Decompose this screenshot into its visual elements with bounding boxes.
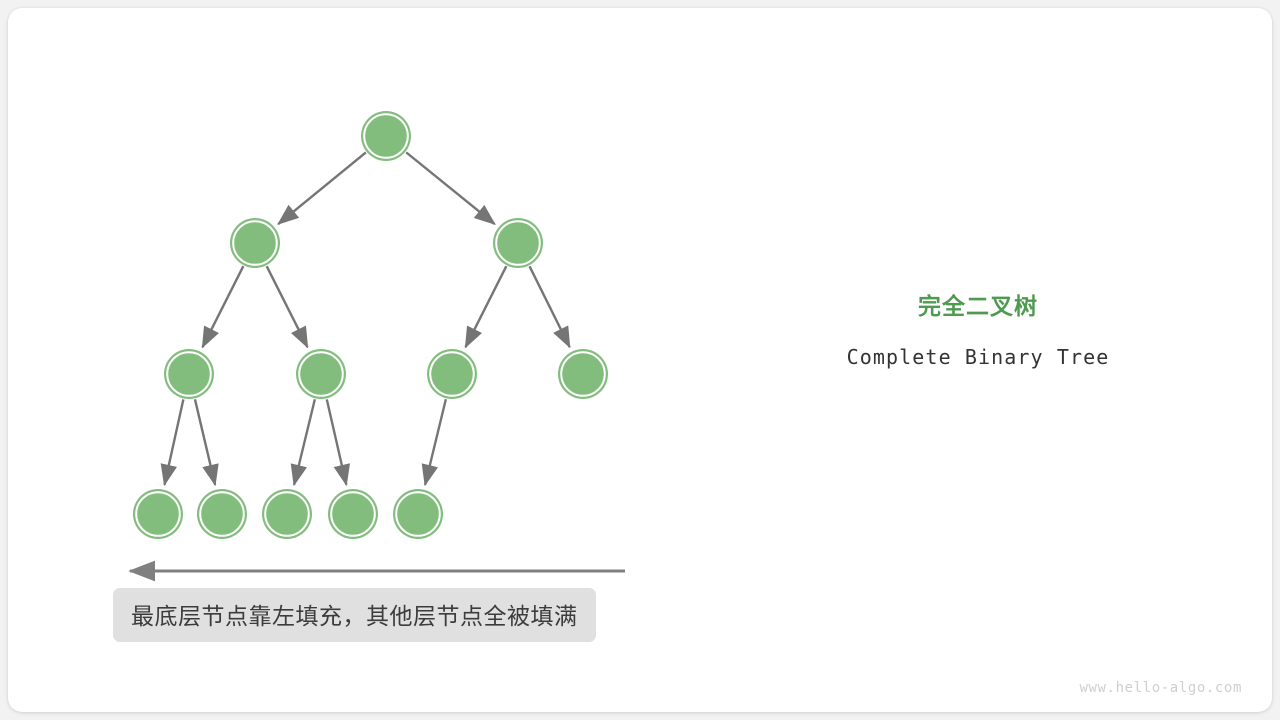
tree-node	[361, 111, 411, 161]
tree-node-core	[138, 494, 178, 534]
tree-edge	[327, 399, 347, 484]
tree-edge	[278, 152, 366, 224]
tree-node-core	[301, 354, 341, 394]
tree-edge	[267, 266, 308, 347]
tree-edge	[465, 266, 506, 347]
tree-edge	[294, 399, 315, 485]
tree-node-core	[333, 494, 373, 534]
tree-node-core	[366, 116, 406, 156]
watermark: www.hello-algo.com	[1079, 680, 1242, 696]
tree-edge	[202, 266, 243, 347]
tree-node-core	[498, 223, 538, 263]
tree-node-core	[267, 494, 307, 534]
tree-node-core	[432, 354, 472, 394]
screenshot-stage: 完全二叉树 Complete Binary Tree 最底层节点靠左填充，其他层…	[0, 0, 1280, 720]
tree-edge	[195, 399, 215, 484]
tree-edge	[425, 399, 446, 485]
tree-edge	[406, 152, 494, 224]
tree-node	[427, 349, 477, 399]
legend-block: 完全二叉树 Complete Binary Tree	[768, 294, 1188, 369]
tree-node-layer	[133, 111, 608, 539]
tree-node	[393, 489, 443, 539]
legend-subtitle: Complete Binary Tree	[768, 322, 1188, 369]
tree-node	[328, 489, 378, 539]
diagram-card: 完全二叉树 Complete Binary Tree 最底层节点靠左填充，其他层…	[8, 8, 1272, 712]
tree-node-core	[169, 354, 209, 394]
legend-title: 完全二叉树	[768, 294, 1188, 322]
tree-edge	[164, 399, 183, 484]
tree-node	[493, 218, 543, 268]
tree-node	[197, 489, 247, 539]
tree-node-core	[235, 223, 275, 263]
tree-node	[133, 489, 183, 539]
tree-node-core	[398, 494, 438, 534]
tree-node	[296, 349, 346, 399]
tree-node	[230, 218, 280, 268]
tree-node	[558, 349, 608, 399]
caption-badge: 最底层节点靠左填充，其他层节点全被填满	[113, 588, 596, 642]
tree-node	[262, 489, 312, 539]
tree-node	[164, 349, 214, 399]
tree-edge	[530, 266, 570, 347]
tree-node-core	[202, 494, 242, 534]
tree-edge-layer	[164, 152, 569, 484]
tree-node-core	[563, 354, 603, 394]
